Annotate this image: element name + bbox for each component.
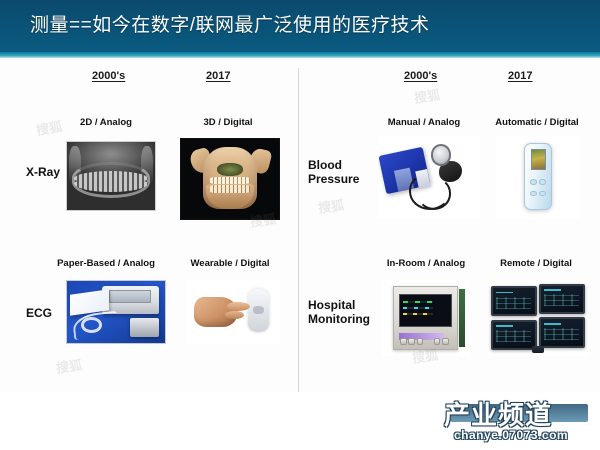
slide: 测量==如今在数字/联网最广泛使用的医疗技术 2000's 2017 X-Ray…	[0, 0, 600, 450]
slide-header-bar: 测量==如今在数字/联网最广泛使用的医疗技术	[0, 0, 600, 52]
figure-aneroid-sphygmomanometer	[378, 136, 480, 218]
watermark-channel-name: 产业频道	[444, 400, 594, 430]
panel-left: 2000's 2017 X-Ray 2D / Analog 3D / Digit…	[0, 58, 298, 392]
era-header-2000s-left: 2000's	[92, 70, 125, 82]
cell-caption-ecg-2017: Wearable / Digital	[176, 258, 284, 269]
cell-caption-hosp-2000s: In-Room / Analog	[372, 258, 480, 269]
row-label-xray: X-Ray	[26, 165, 60, 179]
cell-caption-xray-2000s: 2D / Analog	[60, 117, 152, 128]
figure-remote-monitor-wall	[488, 280, 588, 356]
row-label-ecg: ECG	[26, 306, 52, 320]
row-label-hospital-monitoring: Hospital Monitoring	[308, 298, 370, 326]
page-title: 测量==如今在数字/联网最广泛使用的医疗技术	[30, 10, 429, 37]
era-header-2017-right: 2017	[508, 70, 532, 82]
figure-digital-bp-monitor	[496, 136, 580, 218]
figure-3d-ct-skull	[180, 138, 280, 220]
panel-right: 2000's 2017 Blood Pressure Manual / Anal…	[300, 58, 600, 392]
slide-body: 2000's 2017 X-Ray 2D / Analog 3D / Digit…	[0, 58, 600, 392]
cell-caption-bp-2000s: Manual / Analog	[372, 117, 476, 128]
cell-caption-bp-2017: Automatic / Digital	[480, 117, 594, 128]
watermark-badge: 产业频道 chanye.07073.com	[444, 400, 594, 446]
era-header-2017-left: 2017	[206, 70, 230, 82]
cell-caption-hosp-2017: Remote / Digital	[484, 258, 588, 269]
panel-divider	[298, 68, 299, 398]
cell-caption-xray-2017: 3D / Digital	[182, 117, 274, 128]
figure-bedside-patient-monitor	[382, 280, 470, 356]
row-label-blood-pressure: Blood Pressure	[308, 158, 359, 186]
figure-ecg-cart-machine	[66, 280, 166, 344]
era-header-2000s-right: 2000's	[404, 70, 437, 82]
watermark-url: chanye.07073.com	[454, 428, 568, 442]
cell-caption-ecg-2000s: Paper-Based / Analog	[44, 258, 168, 269]
figure-panoramic-dental-xray	[66, 141, 156, 211]
figure-wearable-ecg-patch	[186, 280, 280, 344]
